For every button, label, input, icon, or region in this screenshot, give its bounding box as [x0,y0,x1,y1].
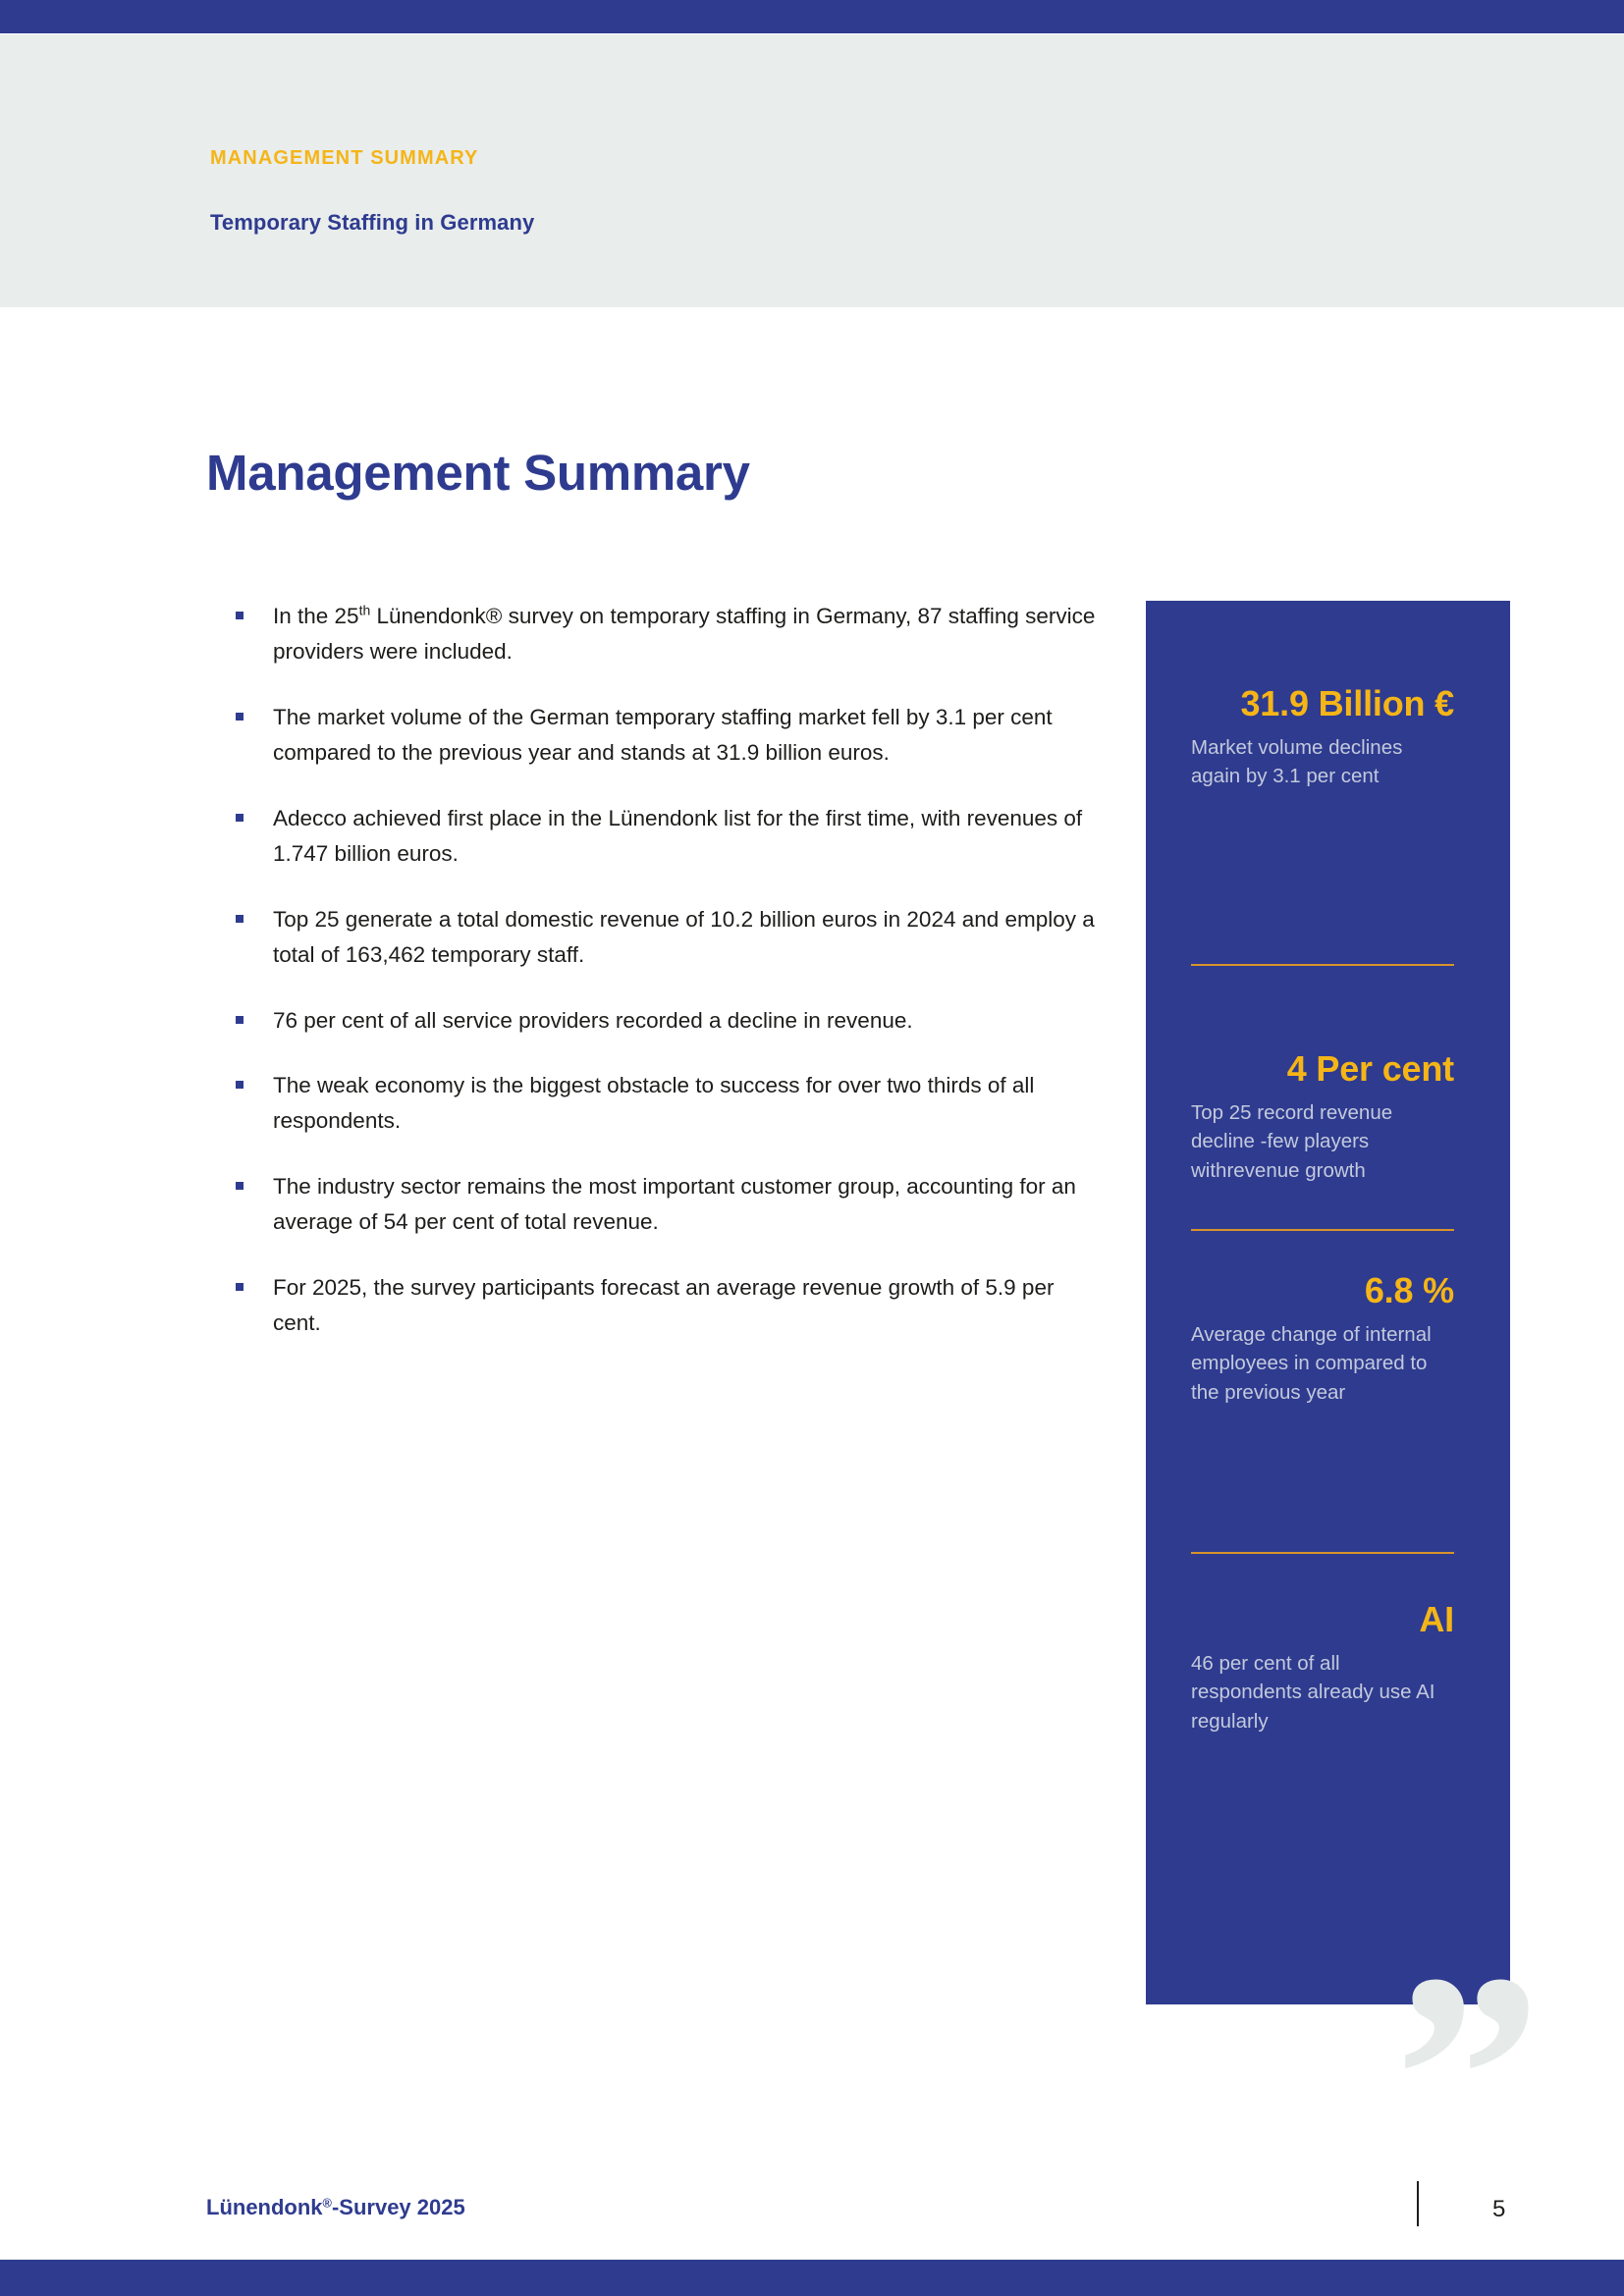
bullet-marker-icon [236,1283,244,1291]
list-item-text-pre: In the 25 [273,604,359,628]
bullet-marker-icon [236,1016,244,1024]
bottom-brand-bar [0,2260,1624,2296]
list-item: The weak economy is the biggest obstacle… [236,1068,1100,1140]
bullet-marker-icon [236,915,244,923]
stat-caption: Top 25 record revenue decline -few playe… [1191,1098,1454,1184]
running-head-band: MANAGEMENT SUMMARY Temporary Staffing in… [0,34,1624,307]
running-head-kicker: MANAGEMENT SUMMARY [210,147,479,170]
summary-bullet-list: In the 25th Lünendonk® survey on tempora… [236,599,1100,1342]
bullet-marker-icon [236,612,244,619]
list-item-text: Top 25 generate a total domestic revenue… [273,907,1095,967]
stat-caption: Average change of internal employees in … [1191,1320,1454,1406]
key-figures-panel: 31.9 Billion € Market volume declines ag… [1146,601,1510,2004]
page-title: Management Summary [206,444,750,502]
list-item: For 2025, the survey participants foreca… [236,1270,1100,1342]
bullet-marker-icon [236,713,244,721]
list-item-text: The market volume of the German temporar… [273,705,1053,765]
stat-divider [1191,1229,1454,1231]
stat-caption: 46 per cent of all respondents already u… [1191,1649,1454,1735]
list-item: The industry sector remains the most imp… [236,1169,1100,1241]
bullet-marker-icon [236,814,244,822]
running-head-title: Temporary Staffing in Germany [210,210,534,236]
list-item-text: For 2025, the survey participants foreca… [273,1275,1054,1335]
stat-divider [1191,1552,1454,1554]
list-item-text: The industry sector remains the most imp… [273,1174,1076,1234]
stat-value: 31.9 Billion € [1191,684,1454,723]
list-item-text-post: Lünendonk® survey on temporary staffing … [273,604,1095,664]
list-item-text: The weak economy is the biggest obstacle… [273,1073,1034,1133]
bullet-marker-icon [236,1182,244,1190]
document-page: MANAGEMENT SUMMARY Temporary Staffing in… [0,0,1624,2296]
stat-value: AI [1191,1600,1454,1639]
list-item: In the 25th Lünendonk® survey on tempora… [236,599,1100,670]
list-item-text: 76 per cent of all service providers rec… [273,1008,913,1033]
bullet-marker-icon [236,1081,244,1089]
stat-value: 4 Per cent [1191,1049,1454,1089]
registered-trademark-icon: ® [323,2196,332,2211]
stat-value: 6.8 % [1191,1271,1454,1310]
footer-divider [1417,2181,1419,2226]
stat-block-top25-revenue: 4 Per cent Top 25 record revenue decline… [1191,1049,1454,1185]
list-item: Top 25 generate a total domestic revenue… [236,902,1100,974]
list-item-text: Adecco achieved first place in the Lünen… [273,806,1082,866]
stat-block-market-volume: 31.9 Billion € Market volume declines ag… [1191,684,1454,791]
stat-block-ai-usage: AI 46 per cent of all respondents alread… [1191,1600,1454,1735]
footer-brand-name: Lünendonk [206,2195,323,2219]
footer-brand-suffix: -Survey 2025 [332,2195,465,2219]
list-item: The market volume of the German temporar… [236,700,1100,772]
stat-divider [1191,964,1454,966]
footer-brand: Lünendonk®-Survey 2025 [206,2195,465,2220]
stat-block-internal-employees: 6.8 % Average change of internal employe… [1191,1271,1454,1407]
list-item: 76 per cent of all service providers rec… [236,1003,1100,1039]
top-brand-bar [0,0,1624,33]
stat-caption: Market volume declines again by 3.1 per … [1191,733,1454,790]
page-number: 5 [1492,2196,1505,2223]
quotation-mark-icon: ” [1394,1929,1542,2223]
list-item: Adecco achieved first place in the Lünen… [236,801,1100,873]
list-item-ordinal-suffix: th [359,602,371,617]
